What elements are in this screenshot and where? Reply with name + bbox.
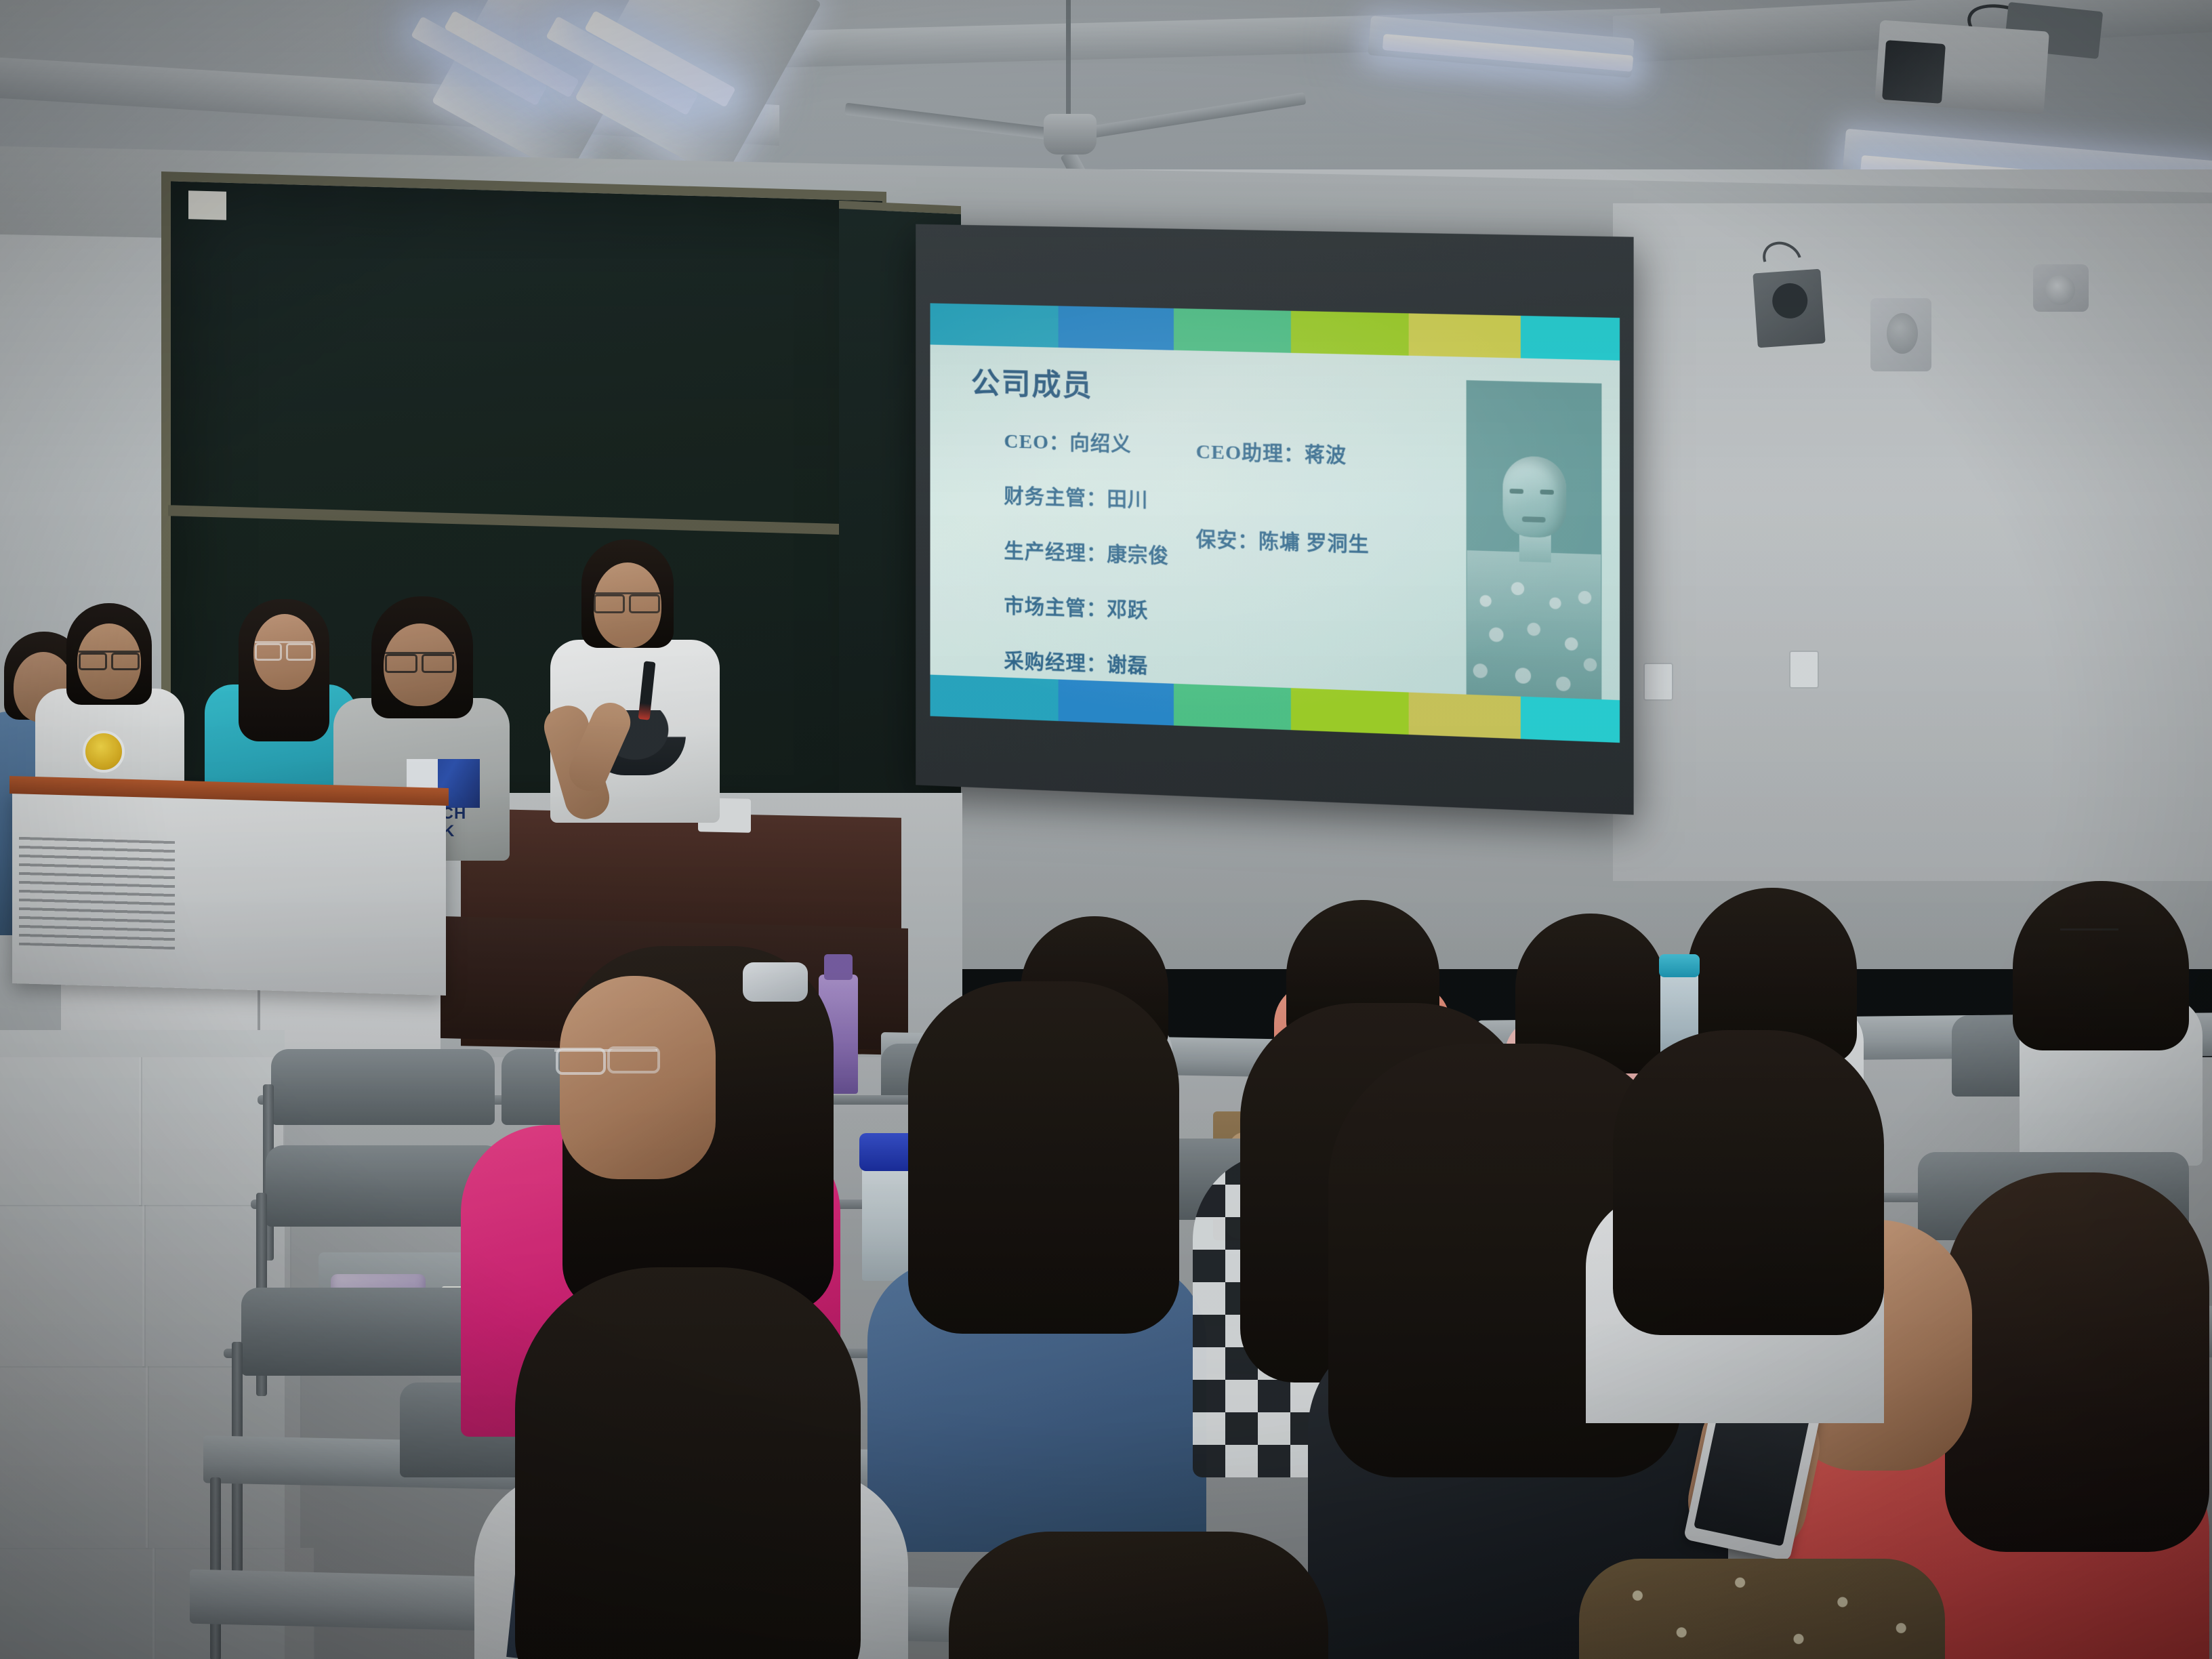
bottle-cap[interactable]: [824, 954, 853, 980]
audience-head: [560, 976, 716, 1179]
portrait-head: [1502, 455, 1566, 538]
roster-column-right: CEO助理：蒋波 保安：陈墉 罗洞生: [1196, 434, 1370, 616]
portrait-eye: [1510, 489, 1523, 494]
bottle-cap[interactable]: [1659, 954, 1700, 977]
floor-tile: [0, 1057, 142, 1206]
floor-tile: [0, 1366, 149, 1549]
projection-screen: 公司成员 CEO：向绍义 财务主管：田川 生产经理：康宗俊 市场主管：邓跃 采购…: [916, 224, 1633, 815]
glasses-icon: [79, 651, 140, 664]
slide-stripe-lime: [1291, 688, 1409, 735]
slide-stripe-teal: [930, 675, 1059, 721]
wall-speaker-icon: [1753, 269, 1825, 348]
hair-clip-icon: [743, 962, 808, 1002]
audience-hair: [908, 981, 1179, 1334]
blackboard-label-card: [188, 190, 226, 220]
roster-item: 生产经理：康宗俊: [1004, 534, 1169, 569]
floor-tile: [0, 1205, 146, 1368]
glasses-icon: [2060, 928, 2118, 942]
slide-stripe-cyan: [1521, 697, 1620, 743]
water-bottle-clear[interactable]: [862, 1152, 915, 1281]
slide-stripe-yellow: [1409, 693, 1521, 739]
slide-stripe-green: [1174, 684, 1290, 730]
glasses-lens: [556, 1048, 606, 1075]
ceiling-fan-rod: [1066, 0, 1071, 119]
audience-hair: [2013, 881, 2189, 1050]
slide-stripe-blue: [1058, 679, 1174, 725]
power-outlet-icon[interactable]: [1789, 651, 1819, 689]
roster-item: CEO：向绍义: [1004, 424, 1169, 458]
security-camera-icon: [2033, 264, 2089, 312]
glasses-lens: [607, 1046, 660, 1073]
projector-lens-icon: [1882, 40, 1946, 104]
seat-leg: [210, 1477, 221, 1659]
slide-stripe-lime: [1291, 311, 1409, 356]
power-outlet-icon[interactable]: [1643, 663, 1673, 701]
slide-stripe-green: [1174, 308, 1290, 353]
seat-back[interactable]: [241, 1288, 499, 1376]
portrait-mouth: [1522, 516, 1546, 523]
slide-portrait-image: [1467, 380, 1602, 722]
glasses-icon: [255, 641, 313, 655]
slide-stripe-blue: [1058, 306, 1174, 350]
wall-sensor-icon: [1870, 298, 1931, 371]
portrait-eye: [1540, 489, 1553, 495]
audience-hair: [1613, 1030, 1884, 1335]
ceiling-fan-icon: [1044, 114, 1097, 155]
glasses-icon: [385, 652, 454, 667]
slide-stripe-teal: [930, 303, 1059, 347]
lecture-hall-photo: 公司成员 CEO：向绍义 财务主管：田川 生产经理：康宗俊 市场主管：邓跃 采购…: [0, 0, 2212, 1659]
audience-body: [1579, 1559, 1945, 1659]
roster-item: 财务主管：田川: [1004, 479, 1169, 514]
podium-speaker-grille: [19, 837, 175, 949]
presentation-slide: 公司成员 CEO：向绍义 财务主管：田川 生产经理：康宗俊 市场主管：邓跃 采购…: [930, 303, 1620, 743]
slide-title: 公司成员: [971, 359, 1093, 405]
seat-back[interactable]: [271, 1049, 495, 1125]
audience-hair: [515, 1267, 861, 1659]
roster-item: CEO助理：蒋波: [1196, 434, 1370, 469]
audience-body: [949, 1532, 1328, 1659]
roster-item: 保安：陈墉 罗洞生: [1196, 523, 1370, 558]
audience-hair: [1945, 1172, 2209, 1552]
roster-item: 采购经理：谢磊: [1004, 644, 1169, 679]
glasses-icon: [594, 592, 660, 607]
slide-stripe-yellow: [1409, 313, 1521, 358]
floor-tile: [0, 1548, 156, 1659]
yellow-badge-icon: [83, 731, 125, 773]
roster-item: 市场主管：邓跃: [1004, 589, 1169, 624]
slide-stripe-cyan: [1521, 316, 1620, 361]
